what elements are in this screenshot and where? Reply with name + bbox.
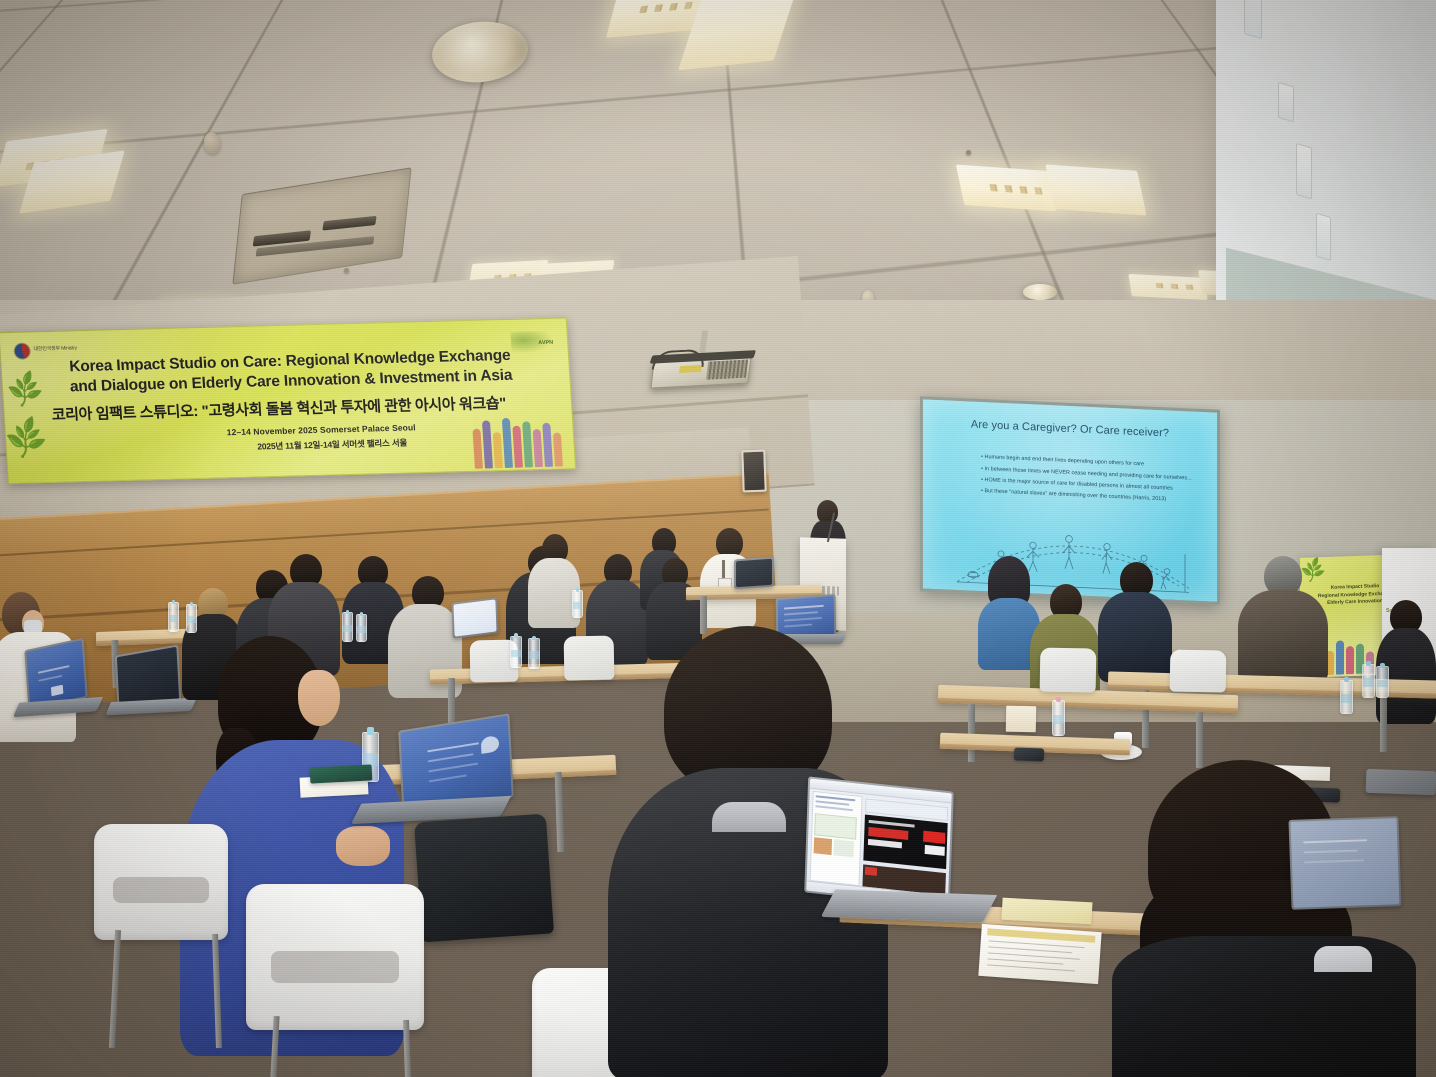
lanyard: [722, 560, 725, 580]
attendee-torso: [1238, 590, 1328, 684]
water-bottle: [168, 602, 179, 632]
wall-speaker: [741, 450, 766, 493]
water-bottle: [186, 604, 197, 633]
presentation-slide: Are you a Caregiver? Or Care receiver? H…: [923, 399, 1217, 601]
attendee-face: [298, 670, 340, 726]
laptop-screen: [454, 599, 497, 636]
sprinkler-head: [344, 268, 349, 273]
laptop-screen: [806, 779, 951, 906]
chair-back: [246, 884, 424, 1030]
dome-light: [1023, 284, 1057, 300]
attendee-hand: [336, 826, 390, 866]
laptop: [451, 597, 498, 639]
water-bottle: [510, 636, 522, 668]
water-bottle: [1052, 700, 1065, 736]
ceiling-panel-light: [1045, 164, 1146, 215]
water-bottle: [528, 638, 540, 669]
attendee-grey-suit: [1238, 556, 1328, 680]
backpack: [414, 814, 554, 943]
attendee-torso: [1098, 592, 1172, 682]
shirt-collar: [1314, 946, 1372, 972]
chair-back: [94, 824, 228, 940]
linear-light: [1296, 143, 1312, 200]
government-logo-text: 대한민국정부 Ministry: [33, 346, 77, 353]
chair: [246, 884, 424, 1030]
sprinkler-head: [966, 150, 971, 155]
projector-vent: [706, 360, 748, 380]
chair: [1040, 648, 1097, 693]
linear-light: [1244, 0, 1262, 39]
green-notebook: [310, 764, 373, 783]
printed-agenda: [1001, 898, 1092, 925]
projection-screen: Are you a Caregiver? Or Care receiver? H…: [920, 396, 1220, 605]
table-leg: [555, 772, 565, 852]
chair: [564, 636, 615, 681]
water-bottle: [1376, 666, 1389, 698]
water-bottle: [1362, 664, 1375, 698]
attendee-long-hair: [1086, 760, 1416, 1077]
chair-slot: [113, 877, 210, 903]
laptop-keyboard: [821, 889, 998, 922]
linear-light: [1316, 213, 1331, 261]
smartphone: [1014, 747, 1044, 761]
chair: [94, 824, 228, 940]
chair: [1170, 650, 1227, 693]
sponsor-logo: AVPN: [510, 331, 553, 354]
laptop-screen: [736, 559, 772, 588]
laptop-screen: [1291, 818, 1400, 908]
shirt-collar: [712, 802, 786, 832]
laptop: [804, 776, 954, 907]
conference-room-photo: 🌿 🌿 대한민국정부 Ministry Korea Impact Studio …: [0, 0, 1436, 1077]
table-leg: [1380, 696, 1387, 752]
linear-light: [1278, 82, 1294, 123]
laptop: [1288, 816, 1401, 910]
government-emblem-icon: [14, 343, 30, 358]
water-bottle: [572, 590, 583, 618]
name-card-tent: [1006, 706, 1036, 733]
ceiling-projector: [650, 355, 751, 388]
attendee-navy: [1098, 562, 1172, 678]
chair-slot: [271, 951, 399, 983]
event-banner: 🌿 🌿 대한민국정부 Ministry Korea Impact Studio …: [0, 317, 576, 484]
water-bottle: [1340, 680, 1353, 714]
laptop: [734, 557, 774, 590]
banner-people-illustration: [471, 404, 571, 468]
printed-agenda: [978, 924, 1101, 984]
